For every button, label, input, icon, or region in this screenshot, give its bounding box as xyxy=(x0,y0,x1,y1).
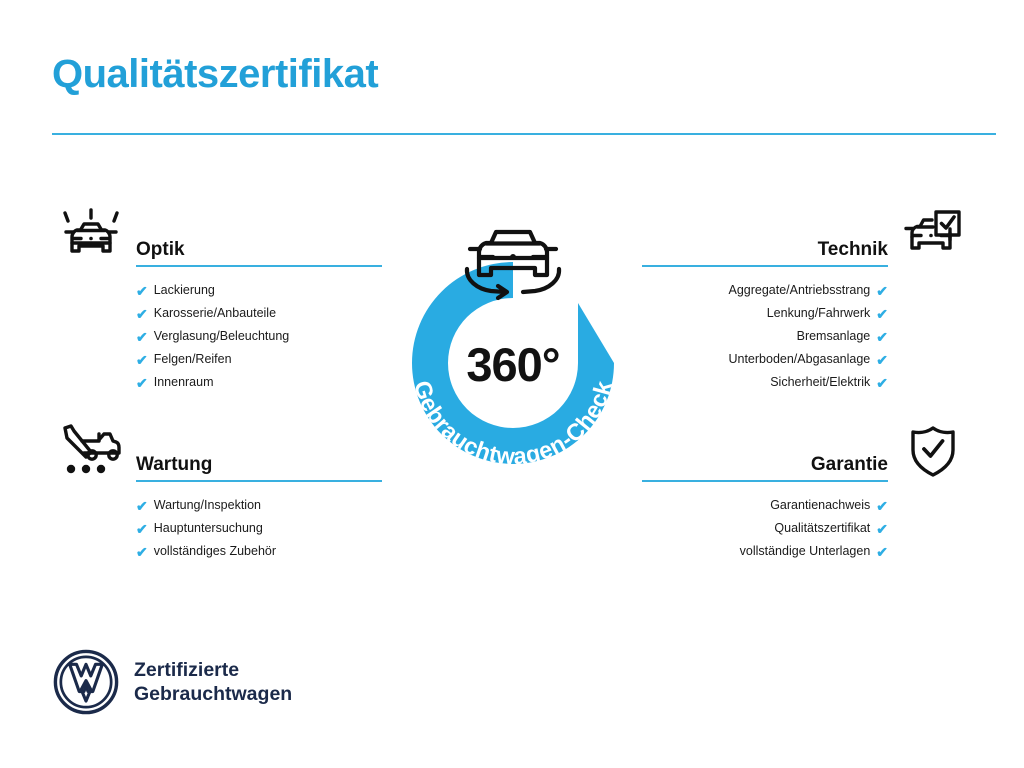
section-technik: Technik Aggregate/Antriebsstrang✔ Lenkun… xyxy=(642,205,972,394)
section-garantie: Garantie Garantienachweis✔ Qualitätszert… xyxy=(642,420,972,563)
car-shine-icon xyxy=(52,205,130,267)
list-item: Garantienachweis✔ xyxy=(642,494,972,517)
list-item-label: Felgen/Reifen xyxy=(154,348,232,371)
list-item: ✔Verglasung/Beleuchtung xyxy=(52,325,382,348)
check-icon: ✔ xyxy=(876,545,888,559)
list-item: ✔Hauptuntersuchung xyxy=(52,517,382,540)
check-icon: ✔ xyxy=(136,376,148,390)
section-optik-list: ✔Lackierung ✔Karosserie/Anbauteile ✔Verg… xyxy=(52,279,382,394)
section-technik-list: Aggregate/Antriebsstrang✔ Lenkung/Fahrwe… xyxy=(642,279,972,394)
check-icon: ✔ xyxy=(876,499,888,513)
list-item: vollständige Unterlagen✔ xyxy=(642,540,972,563)
section-optik: Optik ✔Lackierung ✔Karosserie/Anbauteile… xyxy=(52,205,382,394)
check-icon: ✔ xyxy=(876,307,888,321)
check-icon: ✔ xyxy=(876,284,888,298)
list-item: Lenkung/Fahrwerk✔ xyxy=(642,302,972,325)
list-item-label: vollständiges Zubehör xyxy=(154,540,276,563)
vw-logo-text: Zertifizierte Gebrauchtwagen xyxy=(134,658,292,707)
section-garantie-underline xyxy=(642,480,888,482)
section-technik-title-wrap: Technik xyxy=(642,239,888,267)
list-item: Unterboden/Abgasanlage✔ xyxy=(642,348,972,371)
check-icon: ✔ xyxy=(136,499,148,513)
wrench-car-service-icon xyxy=(52,420,130,482)
check-icon: ✔ xyxy=(136,330,148,344)
car-checkbox-icon xyxy=(894,205,972,267)
check-icon: ✔ xyxy=(136,353,148,367)
list-item: Bremsanlage✔ xyxy=(642,325,972,348)
vw-certified-used-cars-logo: Zertifizierte Gebrauchtwagen xyxy=(52,648,292,716)
check-icon: ✔ xyxy=(876,376,888,390)
list-item: ✔Innenraum xyxy=(52,371,382,394)
page-title: Qualitätszertifikat xyxy=(52,52,378,96)
badge-number: 360° xyxy=(382,341,644,388)
section-wartung-title-wrap: Wartung xyxy=(136,454,382,482)
list-item: Aggregate/Antriebsstrang✔ xyxy=(642,279,972,302)
check-icon: ✔ xyxy=(876,330,888,344)
list-item-label: Qualitätszertifikat xyxy=(774,517,870,540)
list-item-label: Verglasung/Beleuchtung xyxy=(154,325,290,348)
list-item-label: Karosserie/Anbauteile xyxy=(154,302,276,325)
section-garantie-title-wrap: Garantie xyxy=(642,454,888,482)
list-item-label: Aggregate/Antriebsstrang xyxy=(729,279,871,302)
vw-logo-line2: Gebrauchtwagen xyxy=(134,682,292,706)
list-item-label: Sicherheit/Elektrik xyxy=(770,371,870,394)
section-technik-title: Technik xyxy=(642,239,888,265)
list-item-label: Bremsanlage xyxy=(797,325,871,348)
check-icon: ✔ xyxy=(136,522,148,536)
badge-360-gebrauchtwagen-check: Gebrauchtwagen-Check xyxy=(382,193,644,493)
vw-roundel-logo xyxy=(52,648,120,716)
list-item-label: Innenraum xyxy=(154,371,214,394)
check-icon: ✔ xyxy=(876,353,888,367)
list-item-label: vollständige Unterlagen xyxy=(740,540,871,563)
check-icon: ✔ xyxy=(136,284,148,298)
list-item-label: Lenkung/Fahrwerk xyxy=(767,302,871,325)
list-item-label: Unterboden/Abgasanlage xyxy=(728,348,870,371)
section-technik-underline xyxy=(642,265,888,267)
section-wartung-list: ✔Wartung/Inspektion ✔Hauptuntersuchung ✔… xyxy=(52,494,382,563)
list-item-label: Wartung/Inspektion xyxy=(154,494,261,517)
shield-check-icon xyxy=(894,420,972,482)
list-item-label: Garantienachweis xyxy=(770,494,870,517)
section-optik-header: Optik xyxy=(52,205,382,267)
section-optik-title: Optik xyxy=(136,239,382,265)
section-garantie-title: Garantie xyxy=(642,454,888,480)
list-item: ✔Wartung/Inspektion xyxy=(52,494,382,517)
check-icon: ✔ xyxy=(136,307,148,321)
section-technik-header: Technik xyxy=(642,205,972,267)
section-wartung-underline xyxy=(136,480,382,482)
vw-logo-line1: Zertifizierte xyxy=(134,658,292,682)
section-garantie-list: Garantienachweis✔ Qualitätszertifikat✔ v… xyxy=(642,494,972,563)
section-optik-underline xyxy=(136,265,382,267)
section-optik-title-wrap: Optik xyxy=(136,239,382,267)
title-divider xyxy=(52,133,996,135)
section-wartung: Wartung ✔Wartung/Inspektion ✔Hauptunters… xyxy=(52,420,382,563)
list-item: Qualitätszertifikat✔ xyxy=(642,517,972,540)
section-wartung-title: Wartung xyxy=(136,454,382,480)
list-item: ✔Lackierung xyxy=(52,279,382,302)
check-icon: ✔ xyxy=(136,545,148,559)
list-item-label: Hauptuntersuchung xyxy=(154,517,263,540)
section-wartung-header: Wartung xyxy=(52,420,382,482)
list-item: ✔Felgen/Reifen xyxy=(52,348,382,371)
list-item: Sicherheit/Elektrik✔ xyxy=(642,371,972,394)
section-garantie-header: Garantie xyxy=(642,420,972,482)
list-item: ✔vollständiges Zubehör xyxy=(52,540,382,563)
list-item-label: Lackierung xyxy=(154,279,215,302)
list-item: ✔Karosserie/Anbauteile xyxy=(52,302,382,325)
certificate-page: Qualitätszertifikat xyxy=(0,0,1024,768)
check-icon: ✔ xyxy=(876,522,888,536)
